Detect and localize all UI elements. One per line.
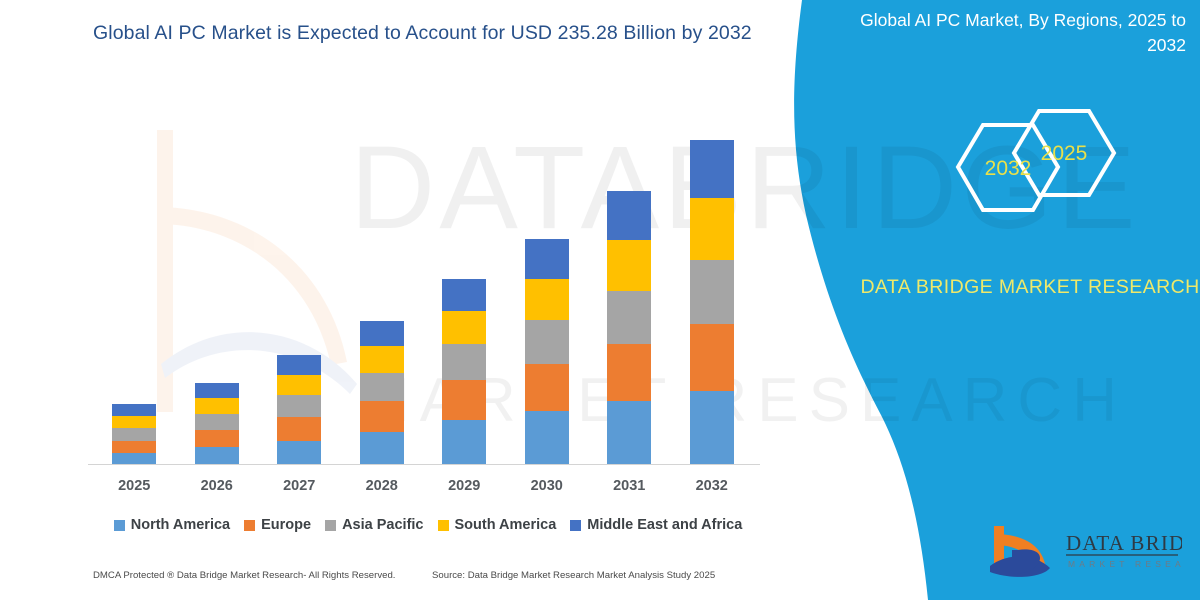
segment-south-america bbox=[112, 416, 156, 428]
segment-middle-east-and-africa bbox=[690, 140, 734, 198]
brand-name: DATA BRIDGE MARKET RESEARCH bbox=[860, 272, 1200, 302]
x-label-2026: 2026 bbox=[187, 478, 247, 494]
segment-north-america bbox=[360, 432, 404, 465]
segment-north-america bbox=[607, 401, 651, 465]
bar-2031[interactable] bbox=[607, 191, 651, 465]
segment-north-america bbox=[277, 441, 321, 465]
chart-legend: North AmericaEuropeAsia PacificSouth Ame… bbox=[93, 514, 763, 536]
logo-wordmark: DATA BRIDGE bbox=[1066, 531, 1182, 555]
legend-swatch bbox=[114, 520, 125, 531]
segment-europe bbox=[112, 441, 156, 453]
stacked-bar-chart bbox=[93, 140, 753, 465]
segment-south-america bbox=[607, 240, 651, 291]
segment-middle-east-and-africa bbox=[112, 404, 156, 416]
legend-label: Asia Pacific bbox=[342, 517, 423, 533]
segment-europe bbox=[277, 417, 321, 441]
x-label-2029: 2029 bbox=[434, 478, 494, 494]
x-label-2028: 2028 bbox=[352, 478, 412, 494]
legend-swatch bbox=[244, 520, 255, 531]
company-logo: DATA BRIDGE MARKET RESEARCH bbox=[982, 520, 1182, 582]
segment-south-america bbox=[277, 375, 321, 396]
segment-north-america bbox=[690, 391, 734, 465]
legend-item-south-america[interactable]: South America bbox=[438, 517, 557, 533]
segment-europe bbox=[195, 430, 239, 447]
legend-swatch bbox=[325, 520, 336, 531]
legend-swatch bbox=[438, 520, 449, 531]
legend-label: Europe bbox=[261, 517, 311, 533]
segment-middle-east-and-africa bbox=[277, 355, 321, 375]
segment-asia-pacific bbox=[442, 344, 486, 380]
segment-south-america bbox=[442, 311, 486, 345]
bar-2027[interactable] bbox=[277, 355, 321, 465]
infographic-canvas: DATABRIDGE MARKET RESEARCH Global AI PC … bbox=[0, 0, 1200, 600]
segment-south-america bbox=[360, 346, 404, 372]
x-label-2031: 2031 bbox=[599, 478, 659, 494]
segment-asia-pacific bbox=[607, 291, 651, 345]
x-axis-line bbox=[88, 464, 760, 465]
segment-middle-east-and-africa bbox=[607, 191, 651, 240]
footer-copyright: DMCA Protected ® Data Bridge Market Rese… bbox=[93, 570, 395, 581]
x-axis-labels: 20252026202720282029203020312032 bbox=[93, 478, 753, 498]
logo-tagline: MARKET RESEARCH bbox=[1068, 559, 1182, 569]
segment-asia-pacific bbox=[277, 395, 321, 417]
bar-2026[interactable] bbox=[195, 383, 239, 465]
x-label-2027: 2027 bbox=[269, 478, 329, 494]
segment-south-america bbox=[690, 198, 734, 259]
segment-north-america bbox=[442, 420, 486, 465]
segment-europe bbox=[525, 364, 569, 411]
segment-asia-pacific bbox=[360, 373, 404, 401]
segment-europe bbox=[690, 324, 734, 391]
segment-asia-pacific bbox=[690, 260, 734, 324]
segment-north-america bbox=[195, 447, 239, 465]
x-label-2032: 2032 bbox=[682, 478, 742, 494]
legend-label: South America bbox=[455, 517, 557, 533]
legend-swatch bbox=[570, 520, 581, 531]
bar-2030[interactable] bbox=[525, 239, 569, 465]
segment-middle-east-and-africa bbox=[525, 239, 569, 279]
segment-south-america bbox=[525, 279, 569, 320]
legend-label: Middle East and Africa bbox=[587, 517, 742, 533]
segment-europe bbox=[607, 344, 651, 401]
panel-title: Global AI PC Market, By Regions, 2025 to… bbox=[856, 8, 1186, 58]
segment-asia-pacific bbox=[195, 414, 239, 430]
logo-mark bbox=[990, 526, 1050, 577]
legend-item-europe[interactable]: Europe bbox=[244, 517, 311, 533]
segment-middle-east-and-africa bbox=[442, 279, 486, 311]
x-label-2030: 2030 bbox=[517, 478, 577, 494]
segment-middle-east-and-africa bbox=[360, 321, 404, 346]
legend-item-north-america[interactable]: North America bbox=[114, 517, 230, 533]
segment-asia-pacific bbox=[112, 428, 156, 440]
footer-source: Source: Data Bridge Market Research Mark… bbox=[432, 570, 715, 581]
segment-south-america bbox=[195, 398, 239, 414]
segment-europe bbox=[442, 380, 486, 420]
x-label-2025: 2025 bbox=[104, 478, 164, 494]
bar-2025[interactable] bbox=[112, 404, 156, 465]
segment-north-america bbox=[525, 411, 569, 465]
bar-2028[interactable] bbox=[360, 321, 404, 465]
page-title: Global AI PC Market is Expected to Accou… bbox=[93, 22, 793, 45]
legend-item-middle-east-and-africa[interactable]: Middle East and Africa bbox=[570, 517, 742, 533]
footer: DMCA Protected ® Data Bridge Market Rese… bbox=[0, 570, 800, 590]
legend-label: North America bbox=[131, 517, 230, 533]
segment-europe bbox=[360, 401, 404, 432]
legend-item-asia-pacific[interactable]: Asia Pacific bbox=[325, 517, 423, 533]
segment-middle-east-and-africa bbox=[195, 383, 239, 398]
segment-asia-pacific bbox=[525, 320, 569, 364]
hexagon-2025-label: 2025 bbox=[1041, 142, 1088, 165]
bar-2032[interactable] bbox=[690, 140, 734, 465]
hexagon-2032-label: 2032 bbox=[985, 157, 1032, 180]
bar-2029[interactable] bbox=[442, 279, 486, 465]
hexagon-badges: 2032 2025 bbox=[938, 105, 1128, 230]
